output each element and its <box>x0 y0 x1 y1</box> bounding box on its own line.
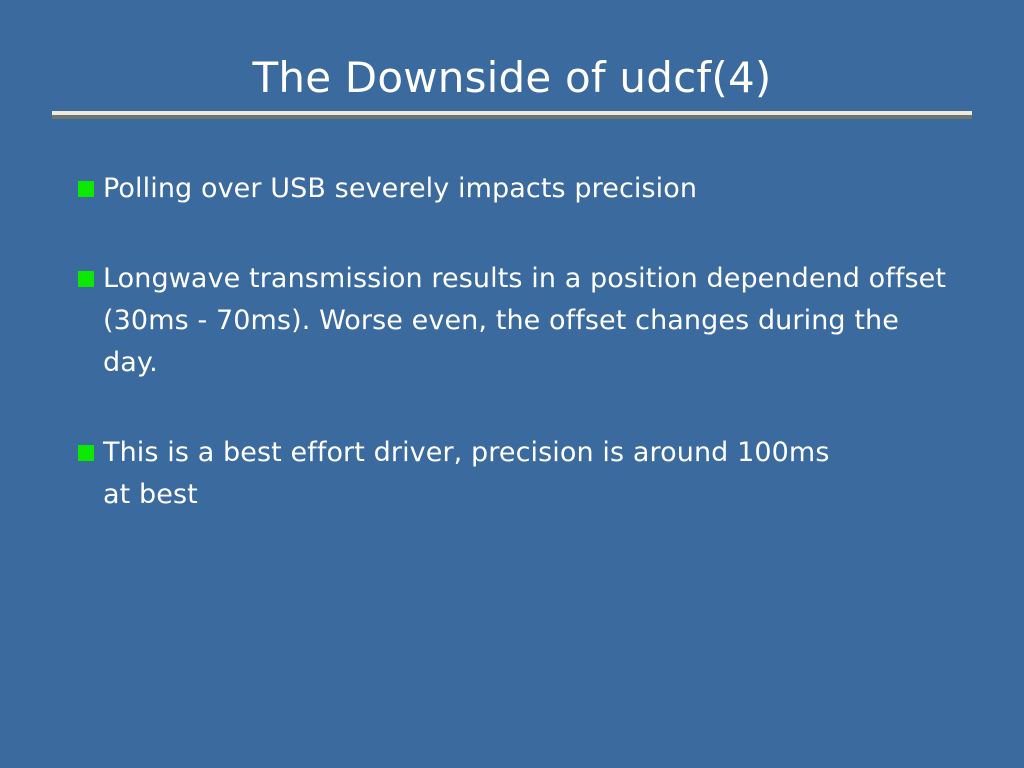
presentation-slide: The Downside of udcf(4) Polling over USB… <box>0 0 1024 768</box>
list-item: Longwave transmission results in a posit… <box>78 258 958 384</box>
slide-body: Polling over USB severely impacts precis… <box>78 168 958 516</box>
list-item-label: Longwave transmission results in a posit… <box>103 258 948 384</box>
square-bullet-icon <box>78 181 94 197</box>
title-divider-shadow <box>52 115 972 119</box>
list-item: This is a best effort driver, precision … <box>78 432 958 516</box>
square-bullet-icon <box>78 445 94 461</box>
list-item: Polling over USB severely impacts precis… <box>78 168 958 210</box>
square-bullet-icon <box>78 271 94 287</box>
title-divider <box>52 111 972 119</box>
slide-title-area: The Downside of udcf(4) <box>0 52 1024 104</box>
page-title: The Downside of udcf(4) <box>0 52 1024 104</box>
list-item-label: Polling over USB severely impacts precis… <box>103 168 863 210</box>
list-item-label: This is a best effort driver, precision … <box>103 432 863 516</box>
